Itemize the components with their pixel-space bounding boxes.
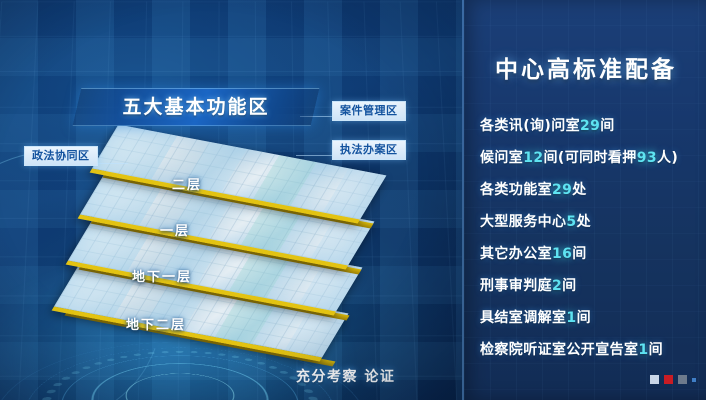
spec-unit: 间 <box>649 342 663 358</box>
spec-list-item: 刑事审判庭2间 <box>480 270 700 302</box>
spec-label: 其它办公室 <box>480 246 552 262</box>
spec-value: 2 <box>552 278 562 294</box>
spec-label: 候问室 <box>480 150 523 166</box>
spec-list-item: 各类讯(询)问室29间 <box>480 110 700 142</box>
indicator-gray <box>678 375 687 384</box>
spec-list-item: 各类功能室29处 <box>480 174 700 206</box>
spec-list: 各类讯(询)问室29间候问室12间(可同时看押93人)各类功能室29处大型服务中… <box>480 110 700 366</box>
spec-value: 12 <box>523 150 543 166</box>
spec-unit: 间 <box>577 310 591 326</box>
left-3d-scene: 地下二层 地下一层 一层 二层 案件管理区 <box>0 0 462 400</box>
spec-value: 1 <box>638 342 648 358</box>
spec-unit: 间(可同时看押 <box>544 150 637 166</box>
spec-label: 刑事审判庭 <box>480 278 552 294</box>
spec-unit: 间 <box>562 278 576 294</box>
slide-root: 地下二层 地下一层 一层 二层 案件管理区 <box>0 0 706 400</box>
spec-list-item: 候问室12间(可同时看押93人) <box>480 142 700 174</box>
indicator-red <box>664 375 673 384</box>
spec-label: 检察院听证室公开宣告室 <box>480 342 638 358</box>
spec-value-secondary: 93 <box>637 150 657 166</box>
spec-unit-secondary: 人) <box>657 150 678 166</box>
spec-list-item: 其它办公室16间 <box>480 238 700 270</box>
spec-list-item: 大型服务中心5处 <box>480 206 700 238</box>
spec-unit: 间 <box>600 118 614 134</box>
spec-unit: 处 <box>577 214 591 230</box>
spec-label: 各类讯(询)问室 <box>480 118 580 134</box>
spec-unit: 处 <box>572 182 586 198</box>
spec-label: 大型服务中心 <box>480 214 566 230</box>
indicator-blue <box>692 378 696 382</box>
spec-unit: 间 <box>572 246 586 262</box>
indicator-white <box>650 375 659 384</box>
spec-list-item: 检察院听证室公开宣告室1间 <box>480 334 700 366</box>
spec-label: 各类功能室 <box>480 182 552 198</box>
vignette-overlay <box>0 0 462 400</box>
spec-value: 16 <box>552 246 572 262</box>
panel-title: 中心高标准配备 <box>464 50 706 84</box>
spec-value: 29 <box>552 182 572 198</box>
spec-value: 1 <box>566 310 576 326</box>
spec-value: 29 <box>580 118 600 134</box>
info-panel: 中心高标准配备 各类讯(询)问室29间候问室12间(可同时看押93人)各类功能室… <box>462 0 706 400</box>
status-indicator-row <box>650 375 696 384</box>
spec-list-item: 具结室调解室1间 <box>480 302 700 334</box>
spec-label: 具结室调解室 <box>480 310 566 326</box>
spec-value: 5 <box>566 214 576 230</box>
